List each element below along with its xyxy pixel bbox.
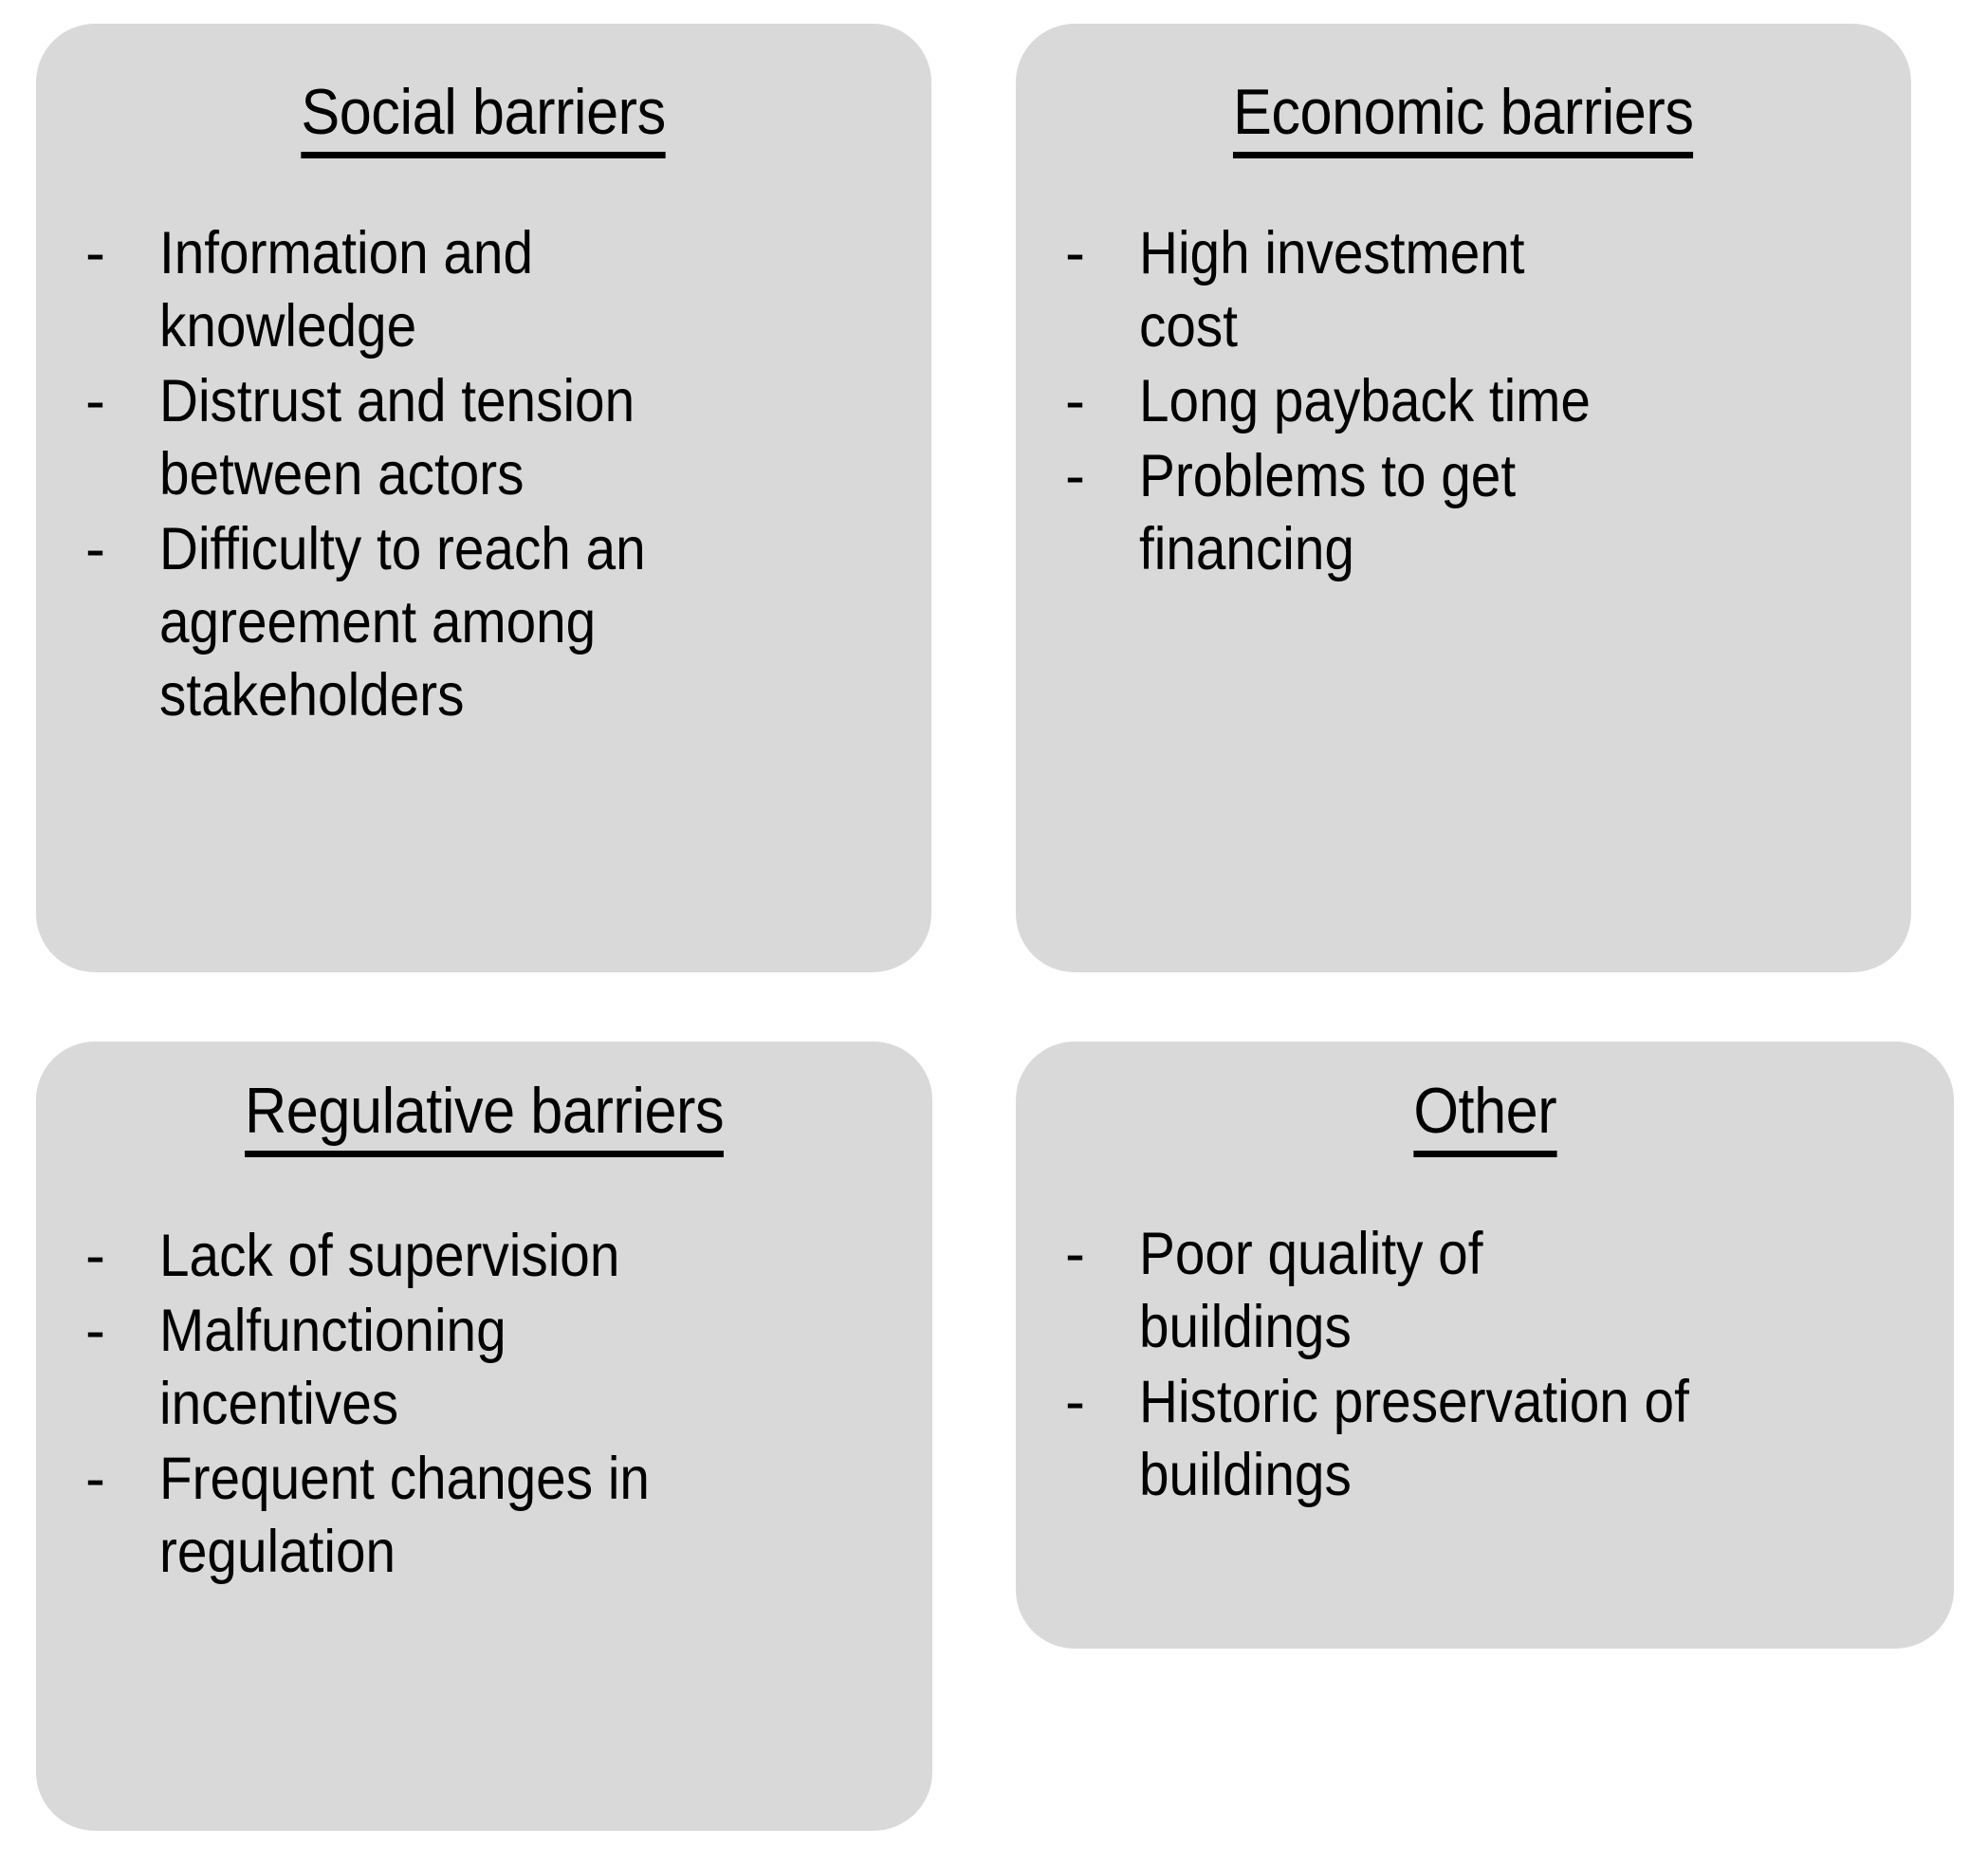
panel-social-barriers: Social barriers - Information and knowle… [36, 24, 931, 972]
panel-regulative-title-text: Regulative barriers [245, 1078, 724, 1157]
bullet-dash-icon: - [85, 1295, 159, 1368]
panel-economic-barriers: Economic barriers - High investment cost… [1016, 24, 1911, 972]
list-item: - Malfunctioning incentives [85, 1295, 908, 1441]
list-item-label: Frequent changes in regulation [159, 1443, 706, 1589]
bullet-dash-icon: - [85, 365, 159, 438]
list-item-label: Problems to get financing [1139, 440, 1617, 586]
list-item: - Historic preservation of buildings [1065, 1366, 1929, 1512]
list-item-label: Long payback time [1139, 365, 1617, 438]
list-item: - Distrust and tension between actors [85, 365, 907, 511]
panel-regulative-barriers: Regulative barriers - Lack of supervisio… [36, 1042, 932, 1831]
panel-other-list: - Poor quality of buildings - Historic p… [1016, 1218, 1954, 1511]
panel-economic-title: Economic barriers [1016, 24, 1911, 158]
diagram-canvas: Social barriers - Information and knowle… [0, 0, 1988, 1863]
bullet-dash-icon: - [1065, 217, 1139, 290]
list-item: - Poor quality of buildings [1065, 1218, 1929, 1364]
panel-economic-title-text: Economic barriers [1233, 79, 1694, 158]
list-item-label: Distrust and tension between actors [159, 365, 706, 511]
bullet-dash-icon: - [85, 217, 159, 290]
list-item-label: Information and knowledge [159, 217, 706, 363]
panel-social-title: Social barriers [36, 24, 931, 158]
bullet-dash-icon: - [1065, 1366, 1139, 1439]
panel-social-title-text: Social barriers [302, 79, 666, 158]
bullet-dash-icon: - [85, 1220, 159, 1293]
list-item-label: High investment cost [1139, 217, 1617, 363]
bullet-dash-icon: - [1065, 1218, 1139, 1291]
list-item-label: Poor quality of buildings [1139, 1218, 1703, 1364]
panel-regulative-list: - Lack of supervision - Malfunctioning i… [36, 1220, 932, 1588]
bullet-dash-icon: - [1065, 365, 1139, 438]
panel-economic-list: - High investment cost - Long payback ti… [1016, 217, 1911, 585]
list-item: - Long payback time [1065, 365, 1887, 438]
list-item-label: Lack of supervision [159, 1220, 706, 1293]
panel-other-title-text: Other [1413, 1078, 1556, 1157]
list-item-label: Malfunctioning incentives [159, 1295, 706, 1441]
bullet-dash-icon: - [85, 1443, 159, 1516]
panel-regulative-title: Regulative barriers [36, 1042, 932, 1157]
list-item: - Problems to get financing [1065, 440, 1887, 586]
panel-social-list: - Information and knowledge - Distrust a… [36, 217, 931, 731]
list-item-label: Historic preservation of buildings [1139, 1366, 1703, 1512]
bullet-dash-icon: - [1065, 440, 1139, 513]
list-item: - Lack of supervision [85, 1220, 908, 1293]
list-item: - Information and knowledge [85, 217, 907, 363]
list-item: - Difficulty to reach an agreement among… [85, 513, 907, 732]
list-item: - High investment cost [1065, 217, 1887, 363]
list-item: - Frequent changes in regulation [85, 1443, 908, 1589]
panel-other: Other - Poor quality of buildings - Hist… [1016, 1042, 1954, 1649]
list-item-label: Difficulty to reach an agreement among s… [159, 513, 706, 732]
bullet-dash-icon: - [85, 513, 159, 586]
panel-other-title: Other [1016, 1042, 1954, 1157]
